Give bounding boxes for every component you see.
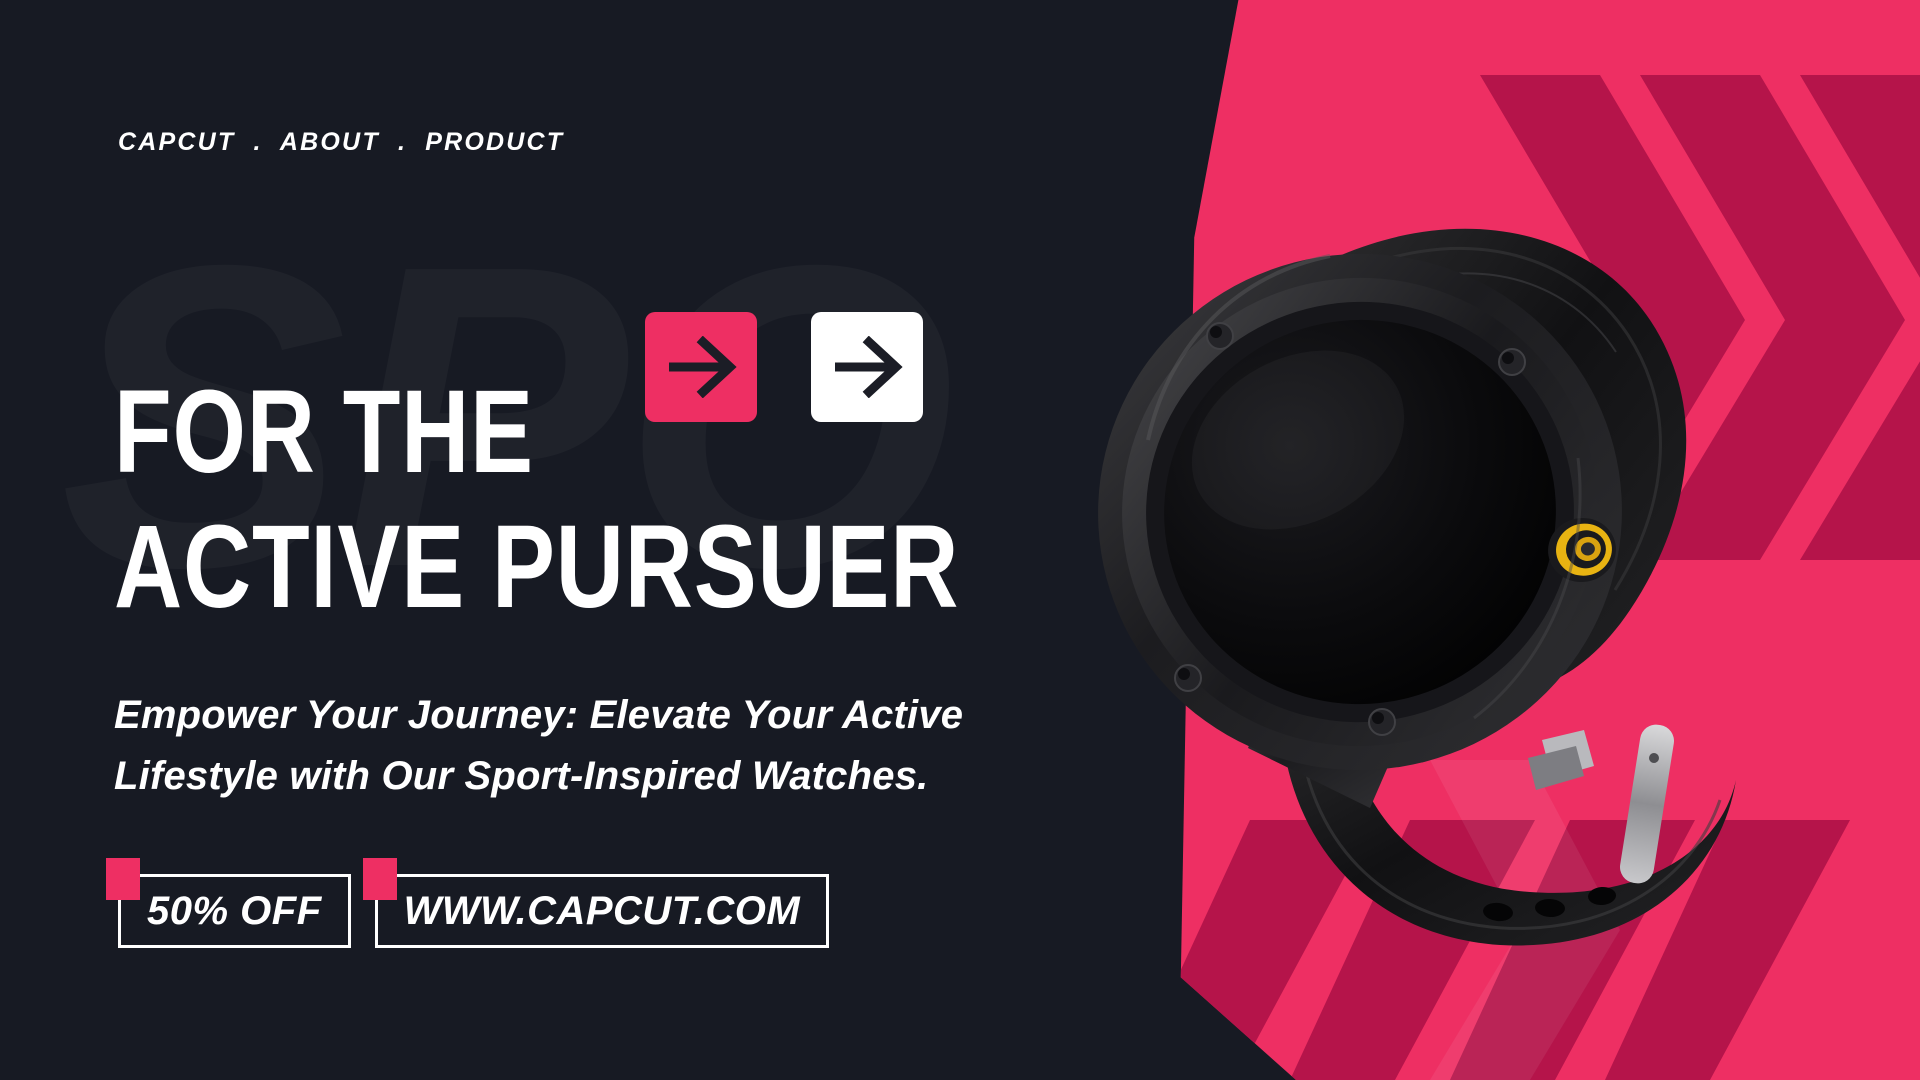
next-button-primary[interactable] — [645, 312, 757, 422]
arrow-right-icon — [665, 336, 737, 398]
buckle — [1528, 722, 1676, 885]
top-navigation: CAPCUT . ABOUT . PRODUCT — [118, 128, 564, 157]
nav-item-product[interactable]: PRODUCT — [425, 128, 564, 156]
nav-separator: . — [245, 128, 272, 156]
website-badge-label: WWW.CAPCUT.COM — [404, 889, 801, 934]
discount-badge-label: 50% OFF — [147, 889, 322, 934]
badge-row: 50% OFF WWW.CAPCUT.COM — [118, 874, 829, 948]
badge-corner-marker — [363, 858, 397, 900]
subtitle-line-1: Empower Your Journey: Elevate Your Activ… — [114, 693, 963, 737]
banner-canvas: SPO CAPCUT . ABOUT . PRODUCT FOR THE ACT… — [0, 0, 1920, 1080]
nav-item-about[interactable]: ABOUT — [280, 128, 380, 156]
arrow-button-group — [645, 312, 923, 422]
discount-badge[interactable]: 50% OFF — [118, 874, 351, 948]
website-badge[interactable]: WWW.CAPCUT.COM — [375, 874, 830, 948]
arrow-right-icon — [831, 336, 903, 398]
nav-item-capcut[interactable]: CAPCUT — [118, 128, 235, 156]
next-button-secondary[interactable] — [811, 312, 923, 422]
badge-corner-marker — [106, 858, 140, 900]
product-image-smartwatch — [1030, 140, 1790, 970]
nav-separator: . — [389, 128, 416, 156]
subtitle-line-2: Lifestyle with Our Sport-Inspired Watche… — [114, 754, 928, 798]
hero-subtitle: Empower Your Journey: Elevate Your Activ… — [114, 685, 994, 807]
